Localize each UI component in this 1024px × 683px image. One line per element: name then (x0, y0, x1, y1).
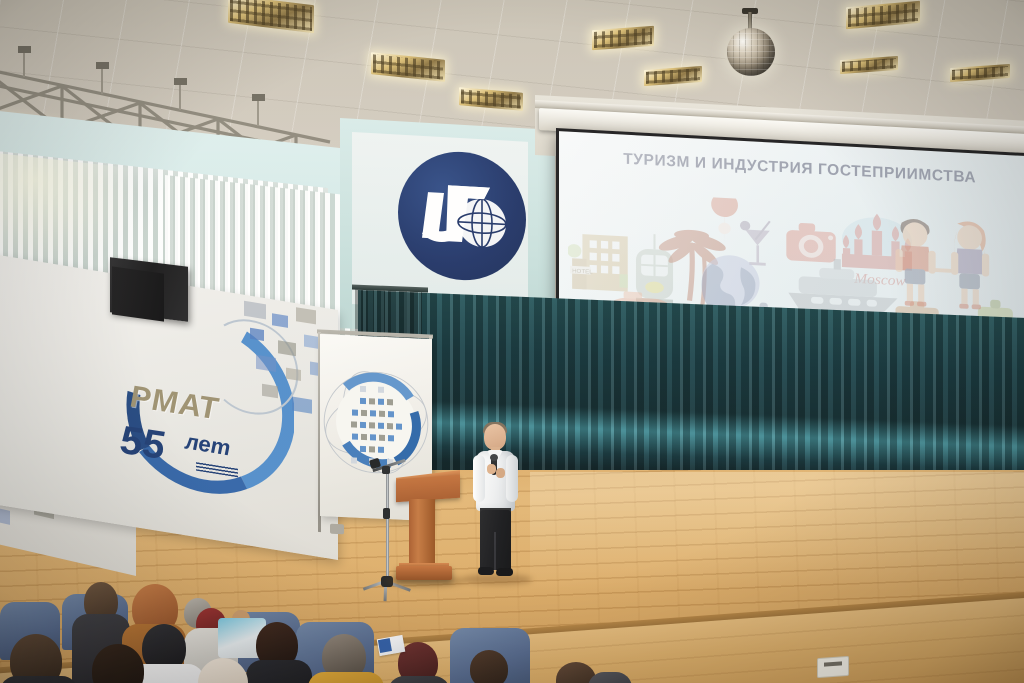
loudspeaker-cabinet-front (112, 266, 164, 321)
audience-person (588, 672, 632, 683)
banner-decor-square (272, 313, 288, 328)
rollup-foot (330, 524, 344, 535)
banner-decor-square (278, 340, 296, 356)
audience-head (470, 650, 508, 683)
banner-decor-square (250, 328, 264, 341)
presenter-right-arm (506, 455, 518, 502)
presenter-left-hand (487, 464, 496, 474)
audience-person (388, 676, 450, 683)
presenter-right-hand (496, 468, 505, 478)
banner-decor-square (296, 307, 316, 324)
presenter (470, 424, 522, 580)
microphone-stand-pole (386, 468, 389, 580)
slide-title: ТУРИЗМ И ИНДУСТРИЯ ГОСТЕПРИИМСТВА (583, 148, 1017, 189)
wall-power-socket (817, 656, 849, 678)
audience-person (246, 660, 312, 683)
audience-person (308, 672, 384, 683)
banner-decor-square (292, 397, 312, 414)
banner-decor-square (0, 506, 10, 525)
leaflet-color-block (378, 638, 392, 653)
microphone-head (490, 454, 498, 461)
banner-anniversary-number: 55 (120, 421, 165, 466)
disco-mirror-ball (727, 28, 775, 76)
banner-decor-square (286, 368, 301, 381)
hotel-label: HOTEL (573, 269, 594, 276)
lectern-column (409, 499, 435, 572)
banner-decor-square (262, 384, 278, 399)
cocktail-glass-icon (740, 220, 770, 266)
hotel-building-icon: HOTEL (568, 233, 628, 291)
presenter-leg-seam (494, 532, 496, 570)
audience (0, 566, 700, 683)
traveler-couple-icon (896, 218, 990, 310)
microphone-stand-height-knob (383, 508, 390, 519)
microphone-stand-joint (382, 466, 390, 474)
photo-camera-icon (787, 222, 836, 263)
banner-decor-square (256, 355, 276, 372)
rmat-round-emblem-icon (398, 148, 526, 283)
presenter-left-arm (473, 455, 485, 502)
audience-person (0, 676, 78, 683)
conference-hall-photo: ТУРИЗМ И ИНДУСТРИЯ ГОСТЕПРИИМСТВА HOTEL (0, 0, 1024, 683)
